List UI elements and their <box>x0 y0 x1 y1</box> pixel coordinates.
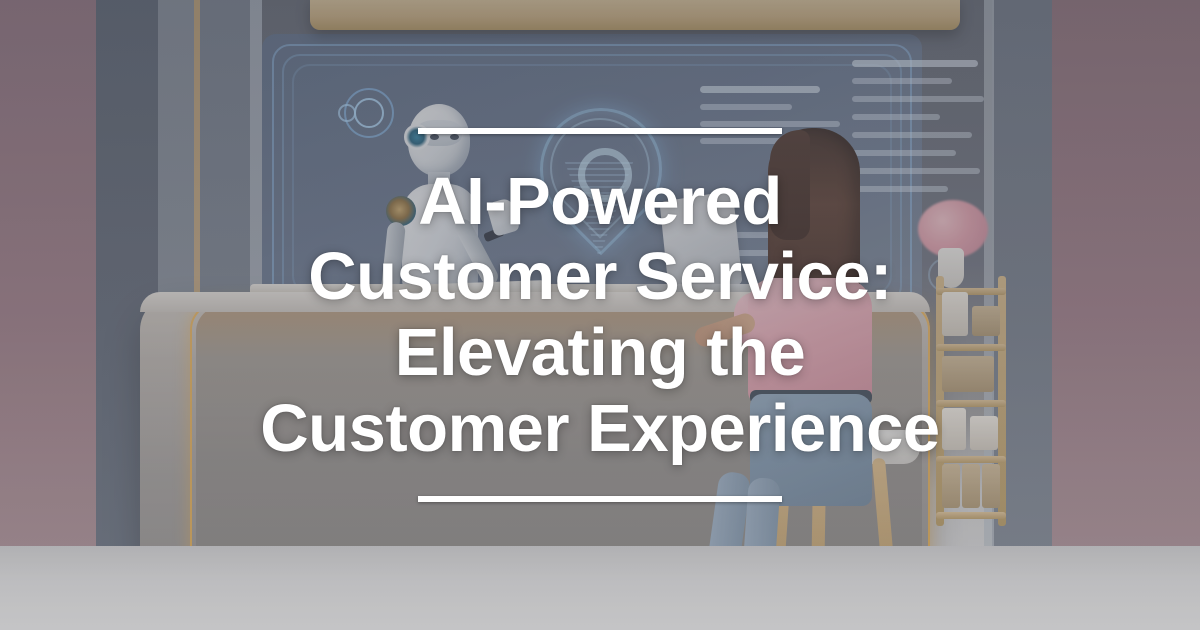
page-title: AI-PoweredCustomer Service:Elevating the… <box>260 164 939 467</box>
top-divider <box>418 128 782 134</box>
title-overlay: AI-PoweredCustomer Service:Elevating the… <box>0 0 1200 630</box>
banner-graphic: AI-PoweredCustomer Service:Elevating the… <box>0 0 1200 630</box>
title-line-3: Elevating the <box>260 315 939 391</box>
title-line-1: AI-Powered <box>260 164 939 240</box>
bottom-divider <box>418 496 782 502</box>
title-line-4: Customer Experience <box>260 391 939 467</box>
title-line-2: Customer Service: <box>260 239 939 315</box>
